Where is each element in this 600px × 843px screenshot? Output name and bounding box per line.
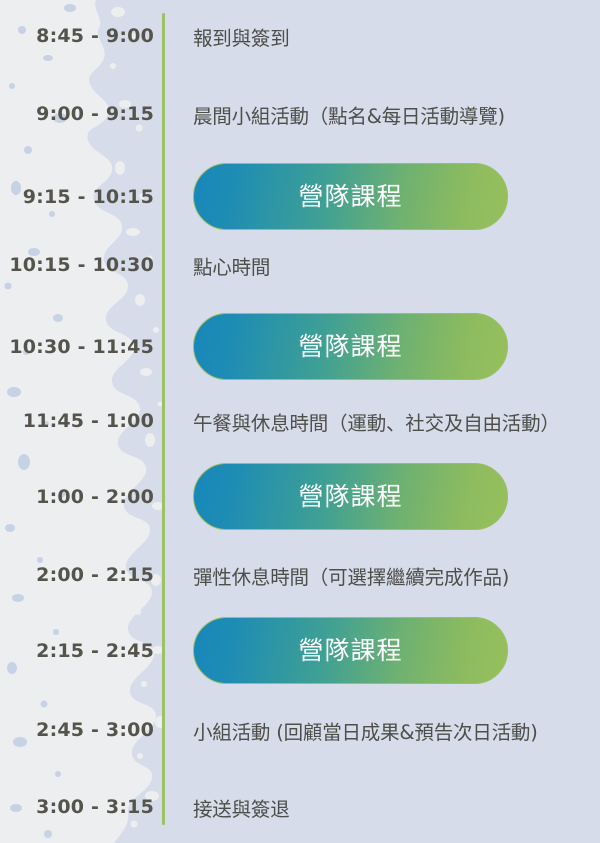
activity-cell: 報到與簽到 [160,22,600,51]
schedule-page: 8:45 - 9:00報到與簽到9:00 - 9:15晨間小組活動（點名&每日活… [0,0,600,843]
schedule-row: 10:15 - 10:30點心時間 [0,245,600,285]
time-label: 2:15 - 2:45 [0,640,160,662]
activity-cell: 晨間小組活動（點名&每日活動導覽) [160,100,600,129]
time-label: 10:30 - 11:45 [0,336,160,358]
schedule-row: 1:00 - 2:00營隊課程 [0,463,600,530]
activity-cell: 午餐與休息時間（運動、社交及自由活動） [160,407,600,436]
activity-cell: 點心時間 [160,251,600,280]
schedule-row: 8:45 - 9:00報到與簽到 [0,16,600,56]
schedule-row: 9:15 - 10:15營隊課程 [0,163,600,230]
camp-course-pill-label: 營隊課程 [298,484,402,509]
schedule-row: 10:30 - 11:45營隊課程 [0,313,600,380]
time-label: 1:00 - 2:00 [0,486,160,508]
activity-label: 小組活動 (回顧當日成果&預告次日活動) [193,716,600,745]
time-label: 9:00 - 9:15 [0,103,160,125]
time-label: 8:45 - 9:00 [0,25,160,47]
activity-label: 晨間小組活動（點名&每日活動導覽) [193,100,600,129]
schedule-row: 2:00 - 2:15彈性休息時間（可選擇繼續完成作品) [0,555,600,595]
schedule-row: 11:45 - 1:00午餐與休息時間（運動、社交及自由活動） [0,401,600,441]
camp-course-pill[interactable]: 營隊課程 [193,463,508,530]
time-label: 2:00 - 2:15 [0,564,160,586]
activity-cell: 營隊課程 [160,163,600,230]
activity-label: 報到與簽到 [193,22,600,51]
camp-course-pill[interactable]: 營隊課程 [193,313,508,380]
activity-cell: 營隊課程 [160,313,600,380]
activity-label: 接送與簽退 [193,793,600,822]
schedule-row: 9:00 - 9:15晨間小組活動（點名&每日活動導覽) [0,94,600,134]
time-label: 11:45 - 1:00 [0,410,160,432]
activity-label: 點心時間 [193,251,600,280]
time-label: 10:15 - 10:30 [0,254,160,276]
activity-cell: 小組活動 (回顧當日成果&預告次日活動) [160,716,600,745]
activity-cell: 接送與簽退 [160,793,600,822]
schedule-row: 2:15 - 2:45營隊課程 [0,617,600,684]
activity-cell: 彈性休息時間（可選擇繼續完成作品) [160,561,600,590]
schedule-row: 3:00 - 3:15接送與簽退 [0,787,600,827]
activity-label: 午餐與休息時間（運動、社交及自由活動） [193,407,600,436]
activity-label: 彈性休息時間（可選擇繼續完成作品) [193,561,600,590]
camp-course-pill-label: 營隊課程 [298,638,402,663]
camp-course-pill[interactable]: 營隊課程 [193,163,508,230]
schedule-row: 2:45 - 3:00小組活動 (回顧當日成果&預告次日活動) [0,710,600,750]
camp-course-pill-label: 營隊課程 [298,184,402,209]
activity-cell: 營隊課程 [160,617,600,684]
camp-course-pill[interactable]: 營隊課程 [193,617,508,684]
time-label: 9:15 - 10:15 [0,186,160,208]
time-label: 3:00 - 3:15 [0,796,160,818]
schedule-rows: 8:45 - 9:00報到與簽到9:00 - 9:15晨間小組活動（點名&每日活… [0,0,600,843]
time-label: 2:45 - 3:00 [0,719,160,741]
activity-cell: 營隊課程 [160,463,600,530]
camp-course-pill-label: 營隊課程 [298,334,402,359]
